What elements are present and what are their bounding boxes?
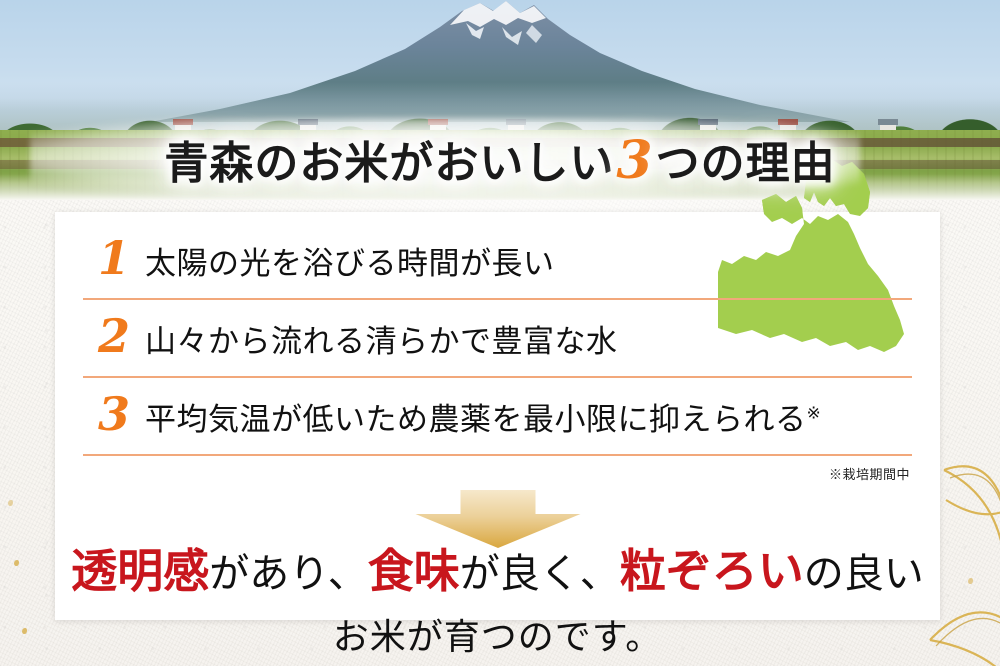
reason-text-2: 山々から流れる清らかで豊富な水	[145, 316, 618, 361]
headline: 青森のお米がおいしい3つの理由	[0, 128, 1000, 190]
reason-label-2: 山々から流れる清らかで豊富な水	[145, 324, 618, 360]
poster-root: 青森のお米がおいしい3つの理由 1 太陽の光を浴びる時間が長い 2	[0, 0, 1000, 666]
reason-mark-3: ※	[807, 403, 822, 423]
conclusion-line-1: 透明感があり、食味が良く、粒ぞろいの良い	[55, 544, 940, 598]
reason-row-3: 3 平均気温が低いため農薬を最小限に抑えられる※	[83, 378, 912, 456]
conclusion-highlight-2: 食味	[368, 544, 460, 598]
down-arrow-icon	[390, 490, 605, 548]
reason-row-1: 1 太陽の光を浴びる時間が長い	[83, 222, 912, 300]
conclusion-highlight-3: 粒ぞろい	[620, 544, 804, 598]
conclusion: 透明感があり、食味が良く、粒ぞろいの良い お米が育つのです。	[55, 544, 940, 660]
headline-text: 青森のお米がおいしい3つの理由	[164, 127, 835, 191]
reasons-card: 1 太陽の光を浴びる時間が長い 2 山々から流れる清らかで豊富な水 3 平均気温…	[55, 212, 940, 620]
conclusion-plain-2: が良く、	[460, 551, 620, 597]
reason-row-2: 2 山々から流れる清らかで豊富な水	[83, 300, 912, 378]
headline-number: 3	[614, 130, 655, 191]
reasons-list: 1 太陽の光を浴びる時間が長い 2 山々から流れる清らかで豊富な水 3 平均気温…	[55, 212, 940, 456]
headline-prefix: 青森のお米がおいしい	[164, 138, 614, 189]
reason-number-1: 1	[83, 235, 145, 285]
footnote: ※栽培期間中	[829, 464, 910, 483]
conclusion-highlight-1: 透明感	[71, 544, 209, 598]
reason-text-3: 平均気温が低いため農薬を最小限に抑えられる※	[145, 394, 821, 439]
conclusion-plain-1: があり、	[209, 551, 367, 597]
reason-label-3: 平均気温が低いため農薬を最小限に抑えられる	[145, 402, 807, 438]
conclusion-plain-3: の良い	[804, 551, 924, 597]
reason-label-1: 太陽の光を浴びる時間が長い	[145, 246, 555, 282]
conclusion-line-2: お米が育つのです。	[55, 608, 940, 660]
reason-text-1: 太陽の光を浴びる時間が長い	[145, 238, 555, 283]
reason-number-2: 2	[83, 313, 145, 363]
reason-number-3: 3	[83, 391, 145, 441]
headline-suffix: つの理由	[656, 138, 836, 189]
